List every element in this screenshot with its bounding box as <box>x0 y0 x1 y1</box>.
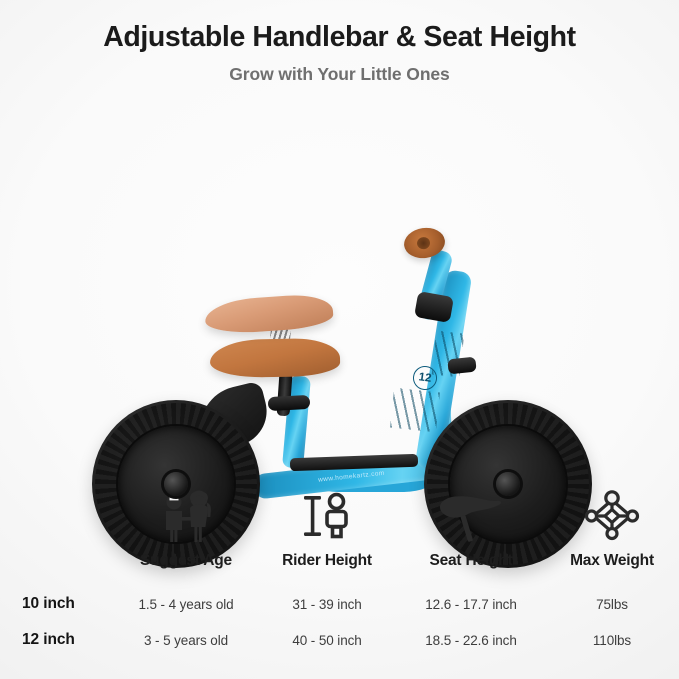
front-wheel-hub <box>164 472 188 496</box>
row-label-12-inch: 12 inch <box>0 622 115 658</box>
table-row: 10 inch 1.5 - 4 years old 31 - 39 inch 1… <box>0 586 679 622</box>
cell-10inch-rider-height: 31 - 39 inch <box>257 586 397 622</box>
two-children-icon <box>154 488 218 544</box>
weight-node-network-icon <box>582 488 642 544</box>
page-subtitle: Grow with Your Little Ones <box>0 64 679 85</box>
handlebar-stem-clamp <box>414 291 454 323</box>
person-height-ruler-icon <box>299 488 355 544</box>
column-header-suggest-age: Suggest Age <box>115 552 257 586</box>
icon-cell-rider-height <box>257 482 397 544</box>
row-label-10-inch: 10 inch <box>0 586 115 622</box>
frame-decal-slashes-lower <box>390 388 440 433</box>
product-image: 12 www.homekartz.com <box>0 100 679 480</box>
table-header-row: Suggest Age Rider Height Seat Height Max… <box>0 552 679 586</box>
balance-bike-illustration: 12 www.homekartz.com <box>0 100 679 480</box>
column-header-rider-height: Rider Height <box>257 552 397 586</box>
column-header-seat-height: Seat Height <box>397 552 545 586</box>
rear-wheel-hub <box>496 472 520 496</box>
saddle-low-position <box>210 338 341 378</box>
bicycle-saddle-icon <box>434 488 508 544</box>
icon-cell-suggest-age <box>115 482 257 544</box>
table-row: 12 inch 3 - 5 years old 40 - 50 inch 18.… <box>0 622 679 658</box>
cell-12inch-max-weight: 110lbs <box>545 622 679 658</box>
icon-cell-seat-height <box>397 482 545 544</box>
specification-table: Suggest Age Rider Height Seat Height Max… <box>0 552 679 658</box>
cell-10inch-max-weight: 75lbs <box>545 586 679 622</box>
cell-10inch-suggest-age: 1.5 - 4 years old <box>115 586 257 622</box>
icon-cell-max-weight <box>545 482 679 544</box>
cell-12inch-seat-height: 18.5 - 22.6 inch <box>397 622 545 658</box>
table-corner-cell <box>0 552 115 586</box>
cell-12inch-suggest-age: 3 - 5 years old <box>115 622 257 658</box>
head-tube-clamp <box>447 357 476 375</box>
saddle-high-position <box>204 293 334 336</box>
header: Adjustable Handlebar & Seat Height Grow … <box>0 0 679 85</box>
seat-post-clamp <box>268 395 311 411</box>
page-title: Adjustable Handlebar & Seat Height <box>0 22 679 53</box>
spec-icons-row <box>0 482 679 544</box>
cell-10inch-seat-height: 12.6 - 17.7 inch <box>397 586 545 622</box>
column-header-max-weight: Max Weight <box>545 552 679 586</box>
cell-12inch-rider-height: 40 - 50 inch <box>257 622 397 658</box>
